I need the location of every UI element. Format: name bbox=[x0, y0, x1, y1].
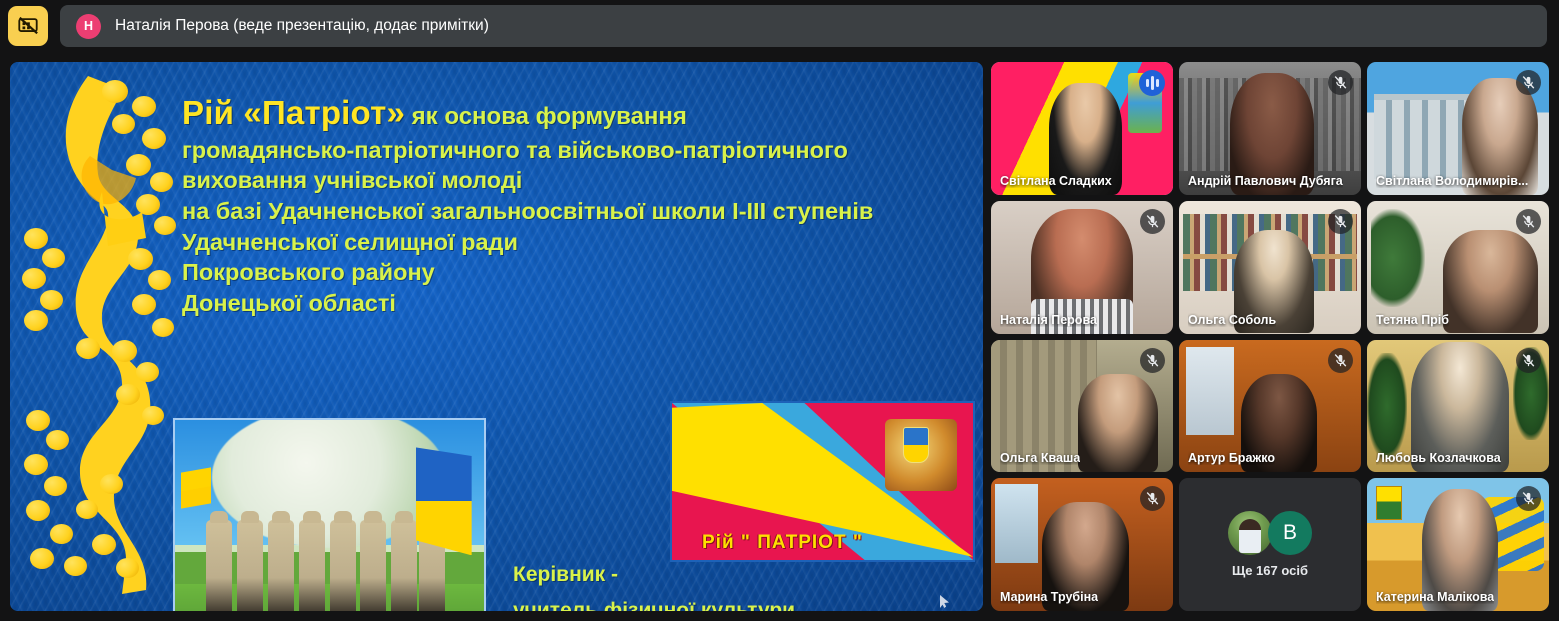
participant-tile[interactable]: Артур Бражко bbox=[1179, 340, 1361, 473]
participant-tile[interactable]: Ольга Соболь bbox=[1179, 201, 1361, 334]
mic-off-icon bbox=[1521, 75, 1536, 90]
participant-tile[interactable]: Світлана Володимирів... bbox=[1367, 62, 1549, 195]
mic-off-icon bbox=[1333, 353, 1348, 368]
screen-share-off-icon bbox=[17, 15, 39, 37]
mic-off-icon bbox=[1333, 75, 1348, 90]
mic-off-icon bbox=[1145, 353, 1160, 368]
participant-tile[interactable]: Світлана Сладких bbox=[991, 62, 1173, 195]
participant-name: Катерина Малікова bbox=[1376, 590, 1494, 604]
participant-name: Наталія Перова bbox=[1000, 313, 1097, 327]
overflow-avatars: В bbox=[1228, 511, 1312, 555]
top-bar: Н Наталія Перова (веде презентацію, дода… bbox=[0, 0, 1559, 52]
slide-credit: Керівник - учитель фізичної культури Сла… bbox=[513, 557, 795, 611]
mic-off-icon bbox=[1521, 353, 1536, 368]
participant-tile[interactable]: Любовь Козлачкова bbox=[1367, 340, 1549, 473]
speaking-indicator-icon bbox=[1139, 70, 1165, 96]
screen-share-off-button[interactable] bbox=[8, 6, 48, 46]
participant-tile[interactable]: Наталія Перова bbox=[991, 201, 1173, 334]
meeting-window: Н Наталія Перова (веде презентацію, дода… bbox=[0, 0, 1559, 621]
presenter-status-text: Наталія Перова (веде презентацію, додає … bbox=[115, 17, 489, 35]
patriot-flag-emblem: Рій " ПАТРІОТ " bbox=[670, 401, 975, 562]
slide-line-4: Удачненської селищної ради bbox=[182, 227, 983, 258]
mic-off-badge bbox=[1140, 209, 1165, 234]
slide-line-6: Донецької області bbox=[182, 288, 983, 319]
emblem-label: Рій " ПАТРІОТ " bbox=[702, 532, 863, 554]
mic-off-badge bbox=[1516, 209, 1541, 234]
participant-name: Ольга Кваша bbox=[1000, 451, 1080, 465]
participant-tile[interactable]: Марина Трубіна bbox=[991, 478, 1173, 611]
slide-title-highlight: Рій «Патріот» bbox=[182, 94, 405, 131]
mic-off-badge bbox=[1140, 348, 1165, 373]
mic-off-badge bbox=[1516, 348, 1541, 373]
credit-line-1: учитель фізичної культури bbox=[513, 593, 795, 611]
participant-tile[interactable]: Андрій Павлович Дубяга bbox=[1179, 62, 1361, 195]
mic-off-badge bbox=[1328, 209, 1353, 234]
overflow-participants-tile[interactable]: ВЩе 167 осіб bbox=[1179, 478, 1361, 611]
mic-off-badge bbox=[1516, 70, 1541, 95]
avatar bbox=[1228, 511, 1272, 555]
participant-name: Марина Трубіна bbox=[1000, 590, 1098, 604]
mic-off-badge bbox=[1328, 70, 1353, 95]
mic-off-icon bbox=[1145, 214, 1160, 229]
presenter-banner[interactable]: Н Наталія Перова (веде презентацію, дода… bbox=[60, 5, 1547, 47]
mic-off-icon bbox=[1145, 491, 1160, 506]
participant-name: Світлана Володимирів... bbox=[1376, 174, 1528, 188]
slide-heading: Рій «Патріот» як основа формування грома… bbox=[182, 92, 983, 318]
ribbon-mimosa-decoration bbox=[16, 62, 184, 611]
participant-name: Тетяна Пріб bbox=[1376, 313, 1449, 327]
slide-line-0: як основа формування bbox=[405, 103, 687, 130]
participant-tile[interactable]: Ольга Кваша bbox=[991, 340, 1173, 473]
mic-off-badge bbox=[1328, 348, 1353, 373]
participant-name: Світлана Сладких bbox=[1000, 174, 1112, 188]
slide-line-5: Покровського району bbox=[182, 257, 983, 288]
mic-off-icon bbox=[1333, 214, 1348, 229]
participant-grid: Світлана СладкихАндрій Павлович ДубягаСв… bbox=[991, 62, 1549, 611]
avatar: Н bbox=[76, 14, 101, 39]
slide-line-1: громадянсько-патріотичного та військово-… bbox=[182, 135, 983, 166]
participant-name: Любовь Козлачкова bbox=[1376, 451, 1501, 465]
shared-slide[interactable]: Рій «Патріот» як основа формування грома… bbox=[10, 62, 983, 611]
overflow-count-label: Ще 167 осіб bbox=[1232, 563, 1308, 578]
cadets-photo bbox=[173, 418, 486, 611]
yellow-ribbon-icon bbox=[50, 70, 156, 600]
participant-tile[interactable]: Катерина Малікова bbox=[1367, 478, 1549, 611]
participant-name: Ольга Соболь bbox=[1188, 313, 1276, 327]
slide-line-2: виховання учнівської молоді bbox=[182, 165, 983, 196]
mic-off-icon bbox=[1521, 491, 1536, 506]
participant-name: Артур Бражко bbox=[1188, 451, 1275, 465]
avatar: В bbox=[1268, 511, 1312, 555]
credit-line-0: Керівник - bbox=[513, 557, 795, 593]
coat-of-arms-icon bbox=[885, 419, 957, 491]
participant-name: Андрій Павлович Дубяга bbox=[1188, 174, 1343, 188]
participant-tile[interactable]: Тетяна Пріб bbox=[1367, 201, 1549, 334]
mic-off-icon bbox=[1521, 214, 1536, 229]
slide-line-3: на базі Удачненської загальноосвітньої ш… bbox=[182, 196, 983, 227]
stage: Рій «Патріот» як основа формування грома… bbox=[0, 52, 1559, 621]
